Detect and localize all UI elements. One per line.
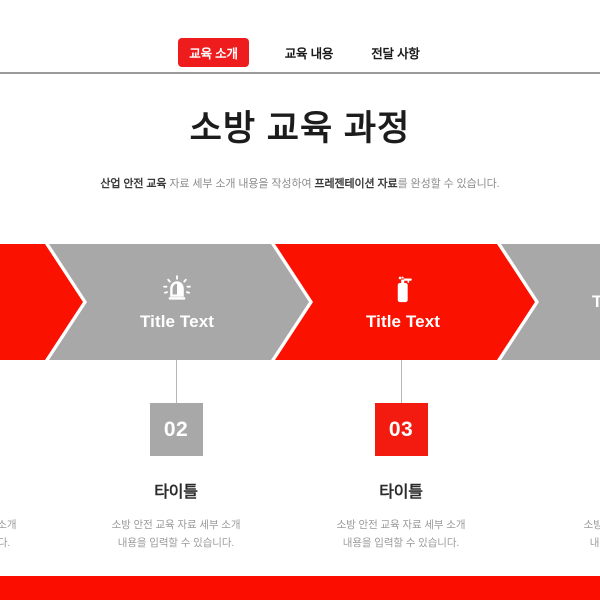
chevron-step-2-label: Title Text	[140, 312, 214, 332]
detail-card-3-body-line1: 소방 안전 교육 자료 세부 소개	[337, 519, 466, 531]
detail-card-3-number: 03	[375, 403, 428, 456]
detail-card-4-body-line2: 내용을 입력할 수 있습니다.	[590, 537, 600, 549]
hero-subtitle: 산업 안전 교육 자료 세부 소개 내용을 작성하여 프레젠테이션 자료를 완성…	[0, 150, 600, 192]
chevron-step-2-content: Title Text	[140, 272, 214, 332]
detail-card-3-body-line2: 내용을 입력할 수 있습니다.	[343, 537, 459, 549]
detail-card-4[interactable]: 04 타이틀 소방 안전 교육 자료 세부 소개 내용을 입력할 수 있습니다.	[553, 403, 600, 553]
detail-card-2-body-line1: 소방 안전 교육 자료 세부 소개	[112, 519, 241, 531]
detail-card-2-body: 소방 안전 교육 자료 세부 소개 내용을 입력할 수 있습니다.	[81, 502, 271, 553]
hero-section: 소방 교육 과정 산업 안전 교육 자료 세부 소개 내용을 작성하여 프레젠테…	[0, 108, 600, 192]
chevron-step-3[interactable]: Title Text	[275, 244, 535, 360]
detail-card-1-body-line2: 내용을 입력할 수 있습니다.	[0, 537, 10, 549]
fire-extinguisher-icon	[386, 272, 420, 306]
detail-card-2[interactable]: 02 타이틀 소방 안전 교육 자료 세부 소개 내용을 입력할 수 있습니다.	[81, 403, 271, 553]
page-header: 교육 소개 교육 내용 전달 사항	[0, 0, 600, 74]
page-title: 소방 교육 과정	[0, 108, 600, 150]
detail-card-1-title: 타이틀	[0, 456, 47, 502]
subtitle-bold-lead: 산업 안전 교육	[100, 178, 166, 190]
detail-card-1[interactable]: 01 타이틀 소방 안전 교육 자료 세부 소개 내용을 입력할 수 있습니다.	[0, 403, 47, 553]
detail-card-1-body-line1: 소방 안전 교육 자료 세부 소개	[0, 519, 16, 531]
detail-card-4-title: 타이틀	[553, 456, 600, 502]
siren-beacon-icon	[160, 272, 194, 306]
subtitle-plain-2: 를 완성할 수 있습니다.	[398, 178, 500, 190]
chevron-step-3-content: Title Text	[366, 272, 440, 332]
chevron-step-3-label: Title Text	[366, 312, 440, 332]
footer-accent-bar	[0, 576, 600, 600]
detail-card-3-title: 타이틀	[306, 456, 496, 502]
detail-card-2-body-line2: 내용을 입력할 수 있습니다.	[118, 537, 234, 549]
detail-card-4-body: 소방 안전 교육 자료 세부 소개 내용을 입력할 수 있습니다.	[553, 502, 600, 553]
subtitle-bold-presentation: 프레젠테이션 자료	[314, 178, 397, 190]
tab-bar: 교육 소개 교육 내용 전달 사항	[0, 38, 600, 67]
tab-education-content[interactable]: 교육 내용	[283, 39, 335, 66]
process-chevron-band: Title Text Title Text Title Text	[0, 244, 600, 360]
chevron-step-2[interactable]: Title Text	[49, 244, 309, 360]
detail-card-1-body: 소방 안전 교육 자료 세부 소개 내용을 입력할 수 있습니다.	[0, 502, 47, 553]
tab-notices[interactable]: 전달 사항	[369, 39, 421, 66]
chevron-step-4-content: Title Text	[592, 292, 600, 312]
detail-card-2-title: 타이틀	[81, 456, 271, 502]
detail-card-3[interactable]: 03 타이틀 소방 안전 교육 자료 세부 소개 내용을 입력할 수 있습니다.	[306, 403, 496, 553]
chevron-step-4-label: Title Text	[592, 292, 600, 312]
detail-card-2-number: 02	[150, 403, 203, 456]
detail-card-4-body-line1: 소방 안전 교육 자료 세부 소개	[584, 519, 600, 531]
subtitle-plain-1: 자료 세부 소개 내용을 작성하여	[166, 178, 314, 190]
connector-line-2	[176, 360, 177, 403]
tab-education-intro[interactable]: 교육 소개	[178, 38, 248, 67]
detail-card-3-body: 소방 안전 교육 자료 세부 소개 내용을 입력할 수 있습니다.	[306, 502, 496, 553]
connector-line-3	[401, 360, 402, 403]
